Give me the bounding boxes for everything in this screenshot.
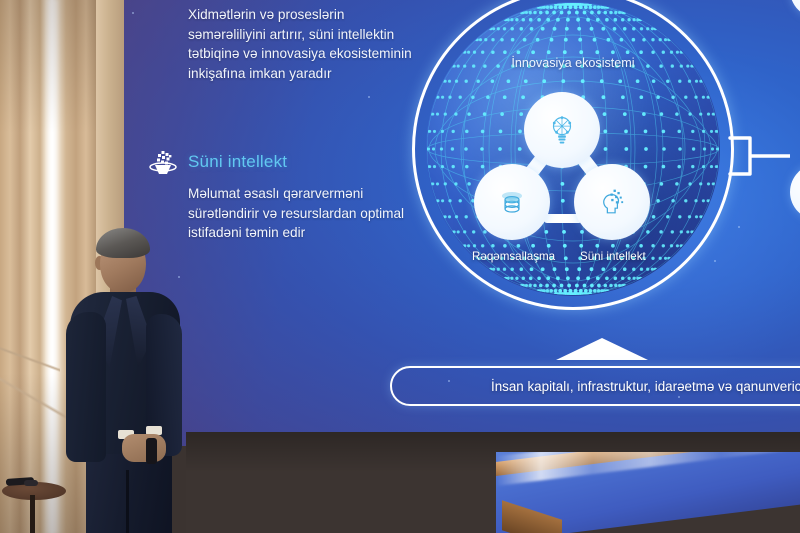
node-label-digitalization: Rəqəmsallaşma	[472, 250, 555, 263]
foundation-banner: İnsan kapitalı, infrastruktur, idarəetmə…	[390, 366, 800, 406]
table-object-small	[24, 480, 38, 486]
conference-table	[496, 452, 800, 533]
database-cloud-icon	[495, 185, 529, 219]
slide-text-column: Rəqəmsallaşma Xidmətlərin və proseslərin…	[148, 0, 420, 251]
feature-body: Məlumat əsaslı qərarverməni sürətləndiri…	[188, 184, 420, 243]
presenter-hair	[96, 228, 150, 258]
feature-title: Süni intellekt	[188, 152, 287, 172]
screenshot-stage: Rəqəmsallaşma Xidmətlərin və proseslərin…	[0, 0, 800, 533]
presenter-hands	[122, 434, 166, 462]
right-connector-bracket	[728, 136, 790, 176]
presenter-trouser-seam	[126, 470, 129, 533]
star-dot	[132, 12, 134, 14]
ecosystem-diagram: Kibertəhlükəsizlik	[406, 0, 800, 422]
presenter-clicker	[146, 438, 157, 464]
node-label-ai: Süni intellekt	[580, 250, 646, 263]
node-digitalization[interactable]	[474, 164, 550, 240]
foundation-arrow-icon	[556, 338, 648, 360]
feature-heading: Süni intellekt	[148, 147, 420, 177]
globe-center-label: İnnovasiya ekosistemi	[462, 56, 684, 70]
feature-block-digitalization: Rəqəmsallaşma Xidmətlərin və proseslərin…	[148, 0, 420, 83]
lightbulb-network-icon	[545, 113, 579, 147]
edge-node-partial-middle[interactable]	[790, 164, 800, 220]
presentation-screen: Rəqəmsallaşma Xidmətlərin və proseslərin…	[118, 0, 800, 446]
edge-node-partial-top[interactable]	[790, 0, 800, 18]
node-innovation[interactable]	[524, 92, 600, 168]
feature-body: Xidmətlərin və proseslərin səmərəliliyin…	[188, 5, 420, 83]
ai-head-icon	[595, 185, 629, 219]
side-table-leg	[30, 495, 35, 533]
foundation-banner-text: İnsan kapitalı, infrastruktur, idarəetmə…	[491, 379, 800, 394]
presenter	[62, 218, 202, 533]
node-ai[interactable]	[574, 164, 650, 240]
globe: İnnovasiya ekosistemi	[412, 0, 734, 310]
ai-brain-icon	[148, 147, 178, 177]
presenter-arm-left	[66, 312, 106, 462]
